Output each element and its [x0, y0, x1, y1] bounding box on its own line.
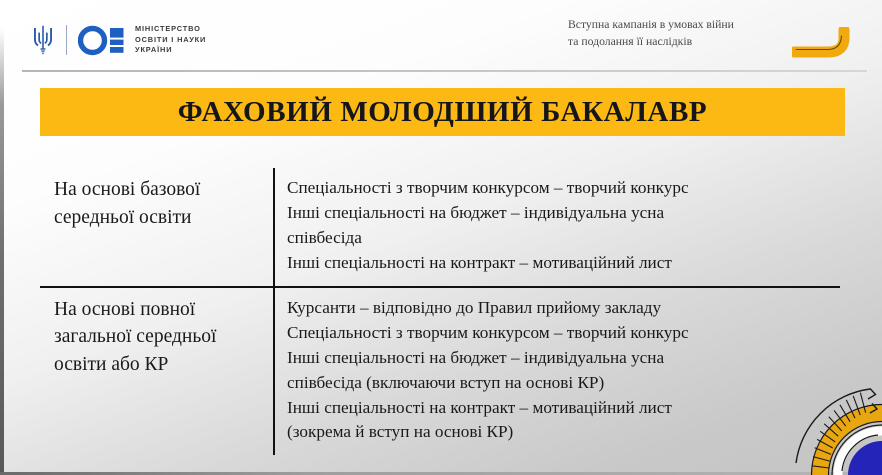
ukraine-trident-icon: [32, 25, 54, 55]
page-title: ФАХОВИЙ МОЛОДШИЙ БАКАЛАВР: [178, 96, 707, 129]
mon-o-mark-icon: [78, 25, 126, 56]
list-item: (зокрема й вступ на основі КР): [287, 420, 834, 445]
list-item: Інші спеціальності на контракт – мотивац…: [287, 251, 834, 276]
slide-title-banner: ФАХОВИЙ МОЛОДШИЙ БАКАЛАВР: [40, 88, 845, 136]
list-item: Спеціальності з творчим конкурсом – твор…: [287, 321, 834, 346]
list-item: Курсанти – відповідно до Правил прийому …: [287, 296, 834, 321]
ministry-logo-line-3: УКРАЇНИ: [135, 45, 206, 56]
ministry-logo-text: МІНІСТЕРСТВО ОСВІТИ І НАУКИ УКРАЇНИ: [135, 24, 206, 56]
list-item: Інші спеціальності на контракт – мотивац…: [287, 396, 834, 421]
list-item: Спеціальності з творчим конкурсом – твор…: [287, 176, 834, 201]
education-basis-label: На основі повної загальної середньої осв…: [40, 288, 273, 387]
list-item: Інші спеціальності на бюджет – індивідуа…: [287, 201, 834, 226]
slide-header: МІНІСТЕРСТВО ОСВІТИ І НАУКИ УКРАЇНИ Всту…: [0, 0, 882, 74]
campaign-subtitle-line-2: та подолання її наслідків: [568, 34, 800, 51]
logo-divider: [66, 25, 67, 55]
list-item: співбесіда (включаючи вступ на основі КР…: [287, 371, 834, 396]
list-item: Інші спеціальності на бюджет – індивідуа…: [287, 346, 834, 371]
ministry-logo: МІНІСТЕРСТВО ОСВІТИ І НАУКИ УКРАЇНИ: [32, 20, 206, 60]
slide: МІНІСТЕРСТВО ОСВІТИ І НАУКИ УКРАЇНИ Всту…: [0, 0, 882, 475]
admission-requirements-table: На основі базової середньої освіти Спеці…: [40, 168, 840, 455]
ministry-logo-line-2: ОСВІТИ І НАУКИ: [135, 35, 206, 46]
campaign-subtitle-line-1: Вступна кампанія в умовах війни: [568, 17, 800, 34]
table-row: На основі базової середньої освіти Спеці…: [40, 168, 840, 286]
admission-conditions-list: Курсанти – відповідно до Правил прийому …: [273, 288, 840, 456]
yellow-hook-decoration-icon: [792, 27, 854, 66]
table-row: На основі повної загальної середньої осв…: [40, 288, 840, 456]
campaign-subtitle: Вступна кампанія в умовах війни та подол…: [568, 17, 800, 50]
list-item: співбесіда: [287, 226, 834, 251]
education-basis-label: На основі базової середньої освіти: [40, 168, 273, 239]
admission-conditions-list: Спеціальності з творчим конкурсом – твор…: [273, 168, 840, 286]
header-divider-rule: [22, 70, 867, 72]
ministry-logo-line-1: МІНІСТЕРСТВО: [135, 24, 206, 35]
